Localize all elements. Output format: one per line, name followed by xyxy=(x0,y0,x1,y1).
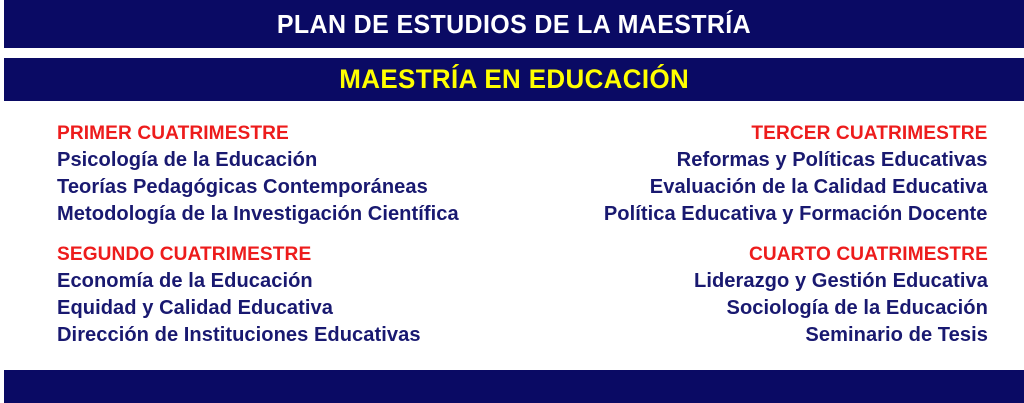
term-block: SEGUNDO CUATRIMESTRE Economía de la Educ… xyxy=(57,241,428,348)
course-item: Liderazgo y Gestión Educativa xyxy=(694,267,988,294)
course-item: Política Educativa y Formación Docente xyxy=(604,200,988,227)
course-item: Economía de la Educación xyxy=(57,267,421,294)
course-item: Psicología de la Educación xyxy=(57,146,459,173)
course-item: Evaluación de la Calidad Educativa xyxy=(604,173,988,200)
term-heading: TERCER CUATRIMESTRE xyxy=(604,120,988,146)
study-plan-poster: PLAN DE ESTUDIOS DE LA MAESTRÍA MAESTRÍA… xyxy=(0,0,1024,403)
course-item: Metodología de la Investigación Científi… xyxy=(57,200,459,227)
course-item: Dirección de Instituciones Educativas xyxy=(57,321,421,348)
term-block: CUARTO CUATRIMESTRE Liderazgo y Gestión … xyxy=(688,241,988,348)
course-item: Teorías Pedagógicas Contemporáneas xyxy=(57,173,459,200)
curriculum-column-left: PRIMER CUATRIMESTRE Psicología de la Edu… xyxy=(0,120,512,364)
curriculum-grid: PRIMER CUATRIMESTRE Psicología de la Edu… xyxy=(0,120,1024,364)
course-item: Reformas y Políticas Educativas xyxy=(604,146,988,173)
curriculum-column-right: TERCER CUATRIMESTRE Reformas y Políticas… xyxy=(512,120,1024,364)
term-heading: CUARTO CUATRIMESTRE xyxy=(694,241,988,267)
term-heading: PRIMER CUATRIMESTRE xyxy=(57,120,459,146)
term-block: PRIMER CUATRIMESTRE Psicología de la Edu… xyxy=(57,120,467,227)
term-heading: SEGUNDO CUATRIMESTRE xyxy=(57,241,421,267)
title-banner: PLAN DE ESTUDIOS DE LA MAESTRÍA xyxy=(4,0,1024,48)
subtitle-banner: MAESTRÍA EN EDUCACIÓN xyxy=(4,58,1024,101)
page-title: PLAN DE ESTUDIOS DE LA MAESTRÍA xyxy=(277,11,751,37)
course-item: Sociología de la Educación xyxy=(694,294,988,321)
course-item: Seminario de Tesis xyxy=(694,321,988,348)
course-item: Equidad y Calidad Educativa xyxy=(57,294,421,321)
term-block: TERCER CUATRIMESTRE Reformas y Políticas… xyxy=(596,120,988,227)
footer-banner xyxy=(4,370,1024,403)
program-name: MAESTRÍA EN EDUCACIÓN xyxy=(339,66,689,93)
